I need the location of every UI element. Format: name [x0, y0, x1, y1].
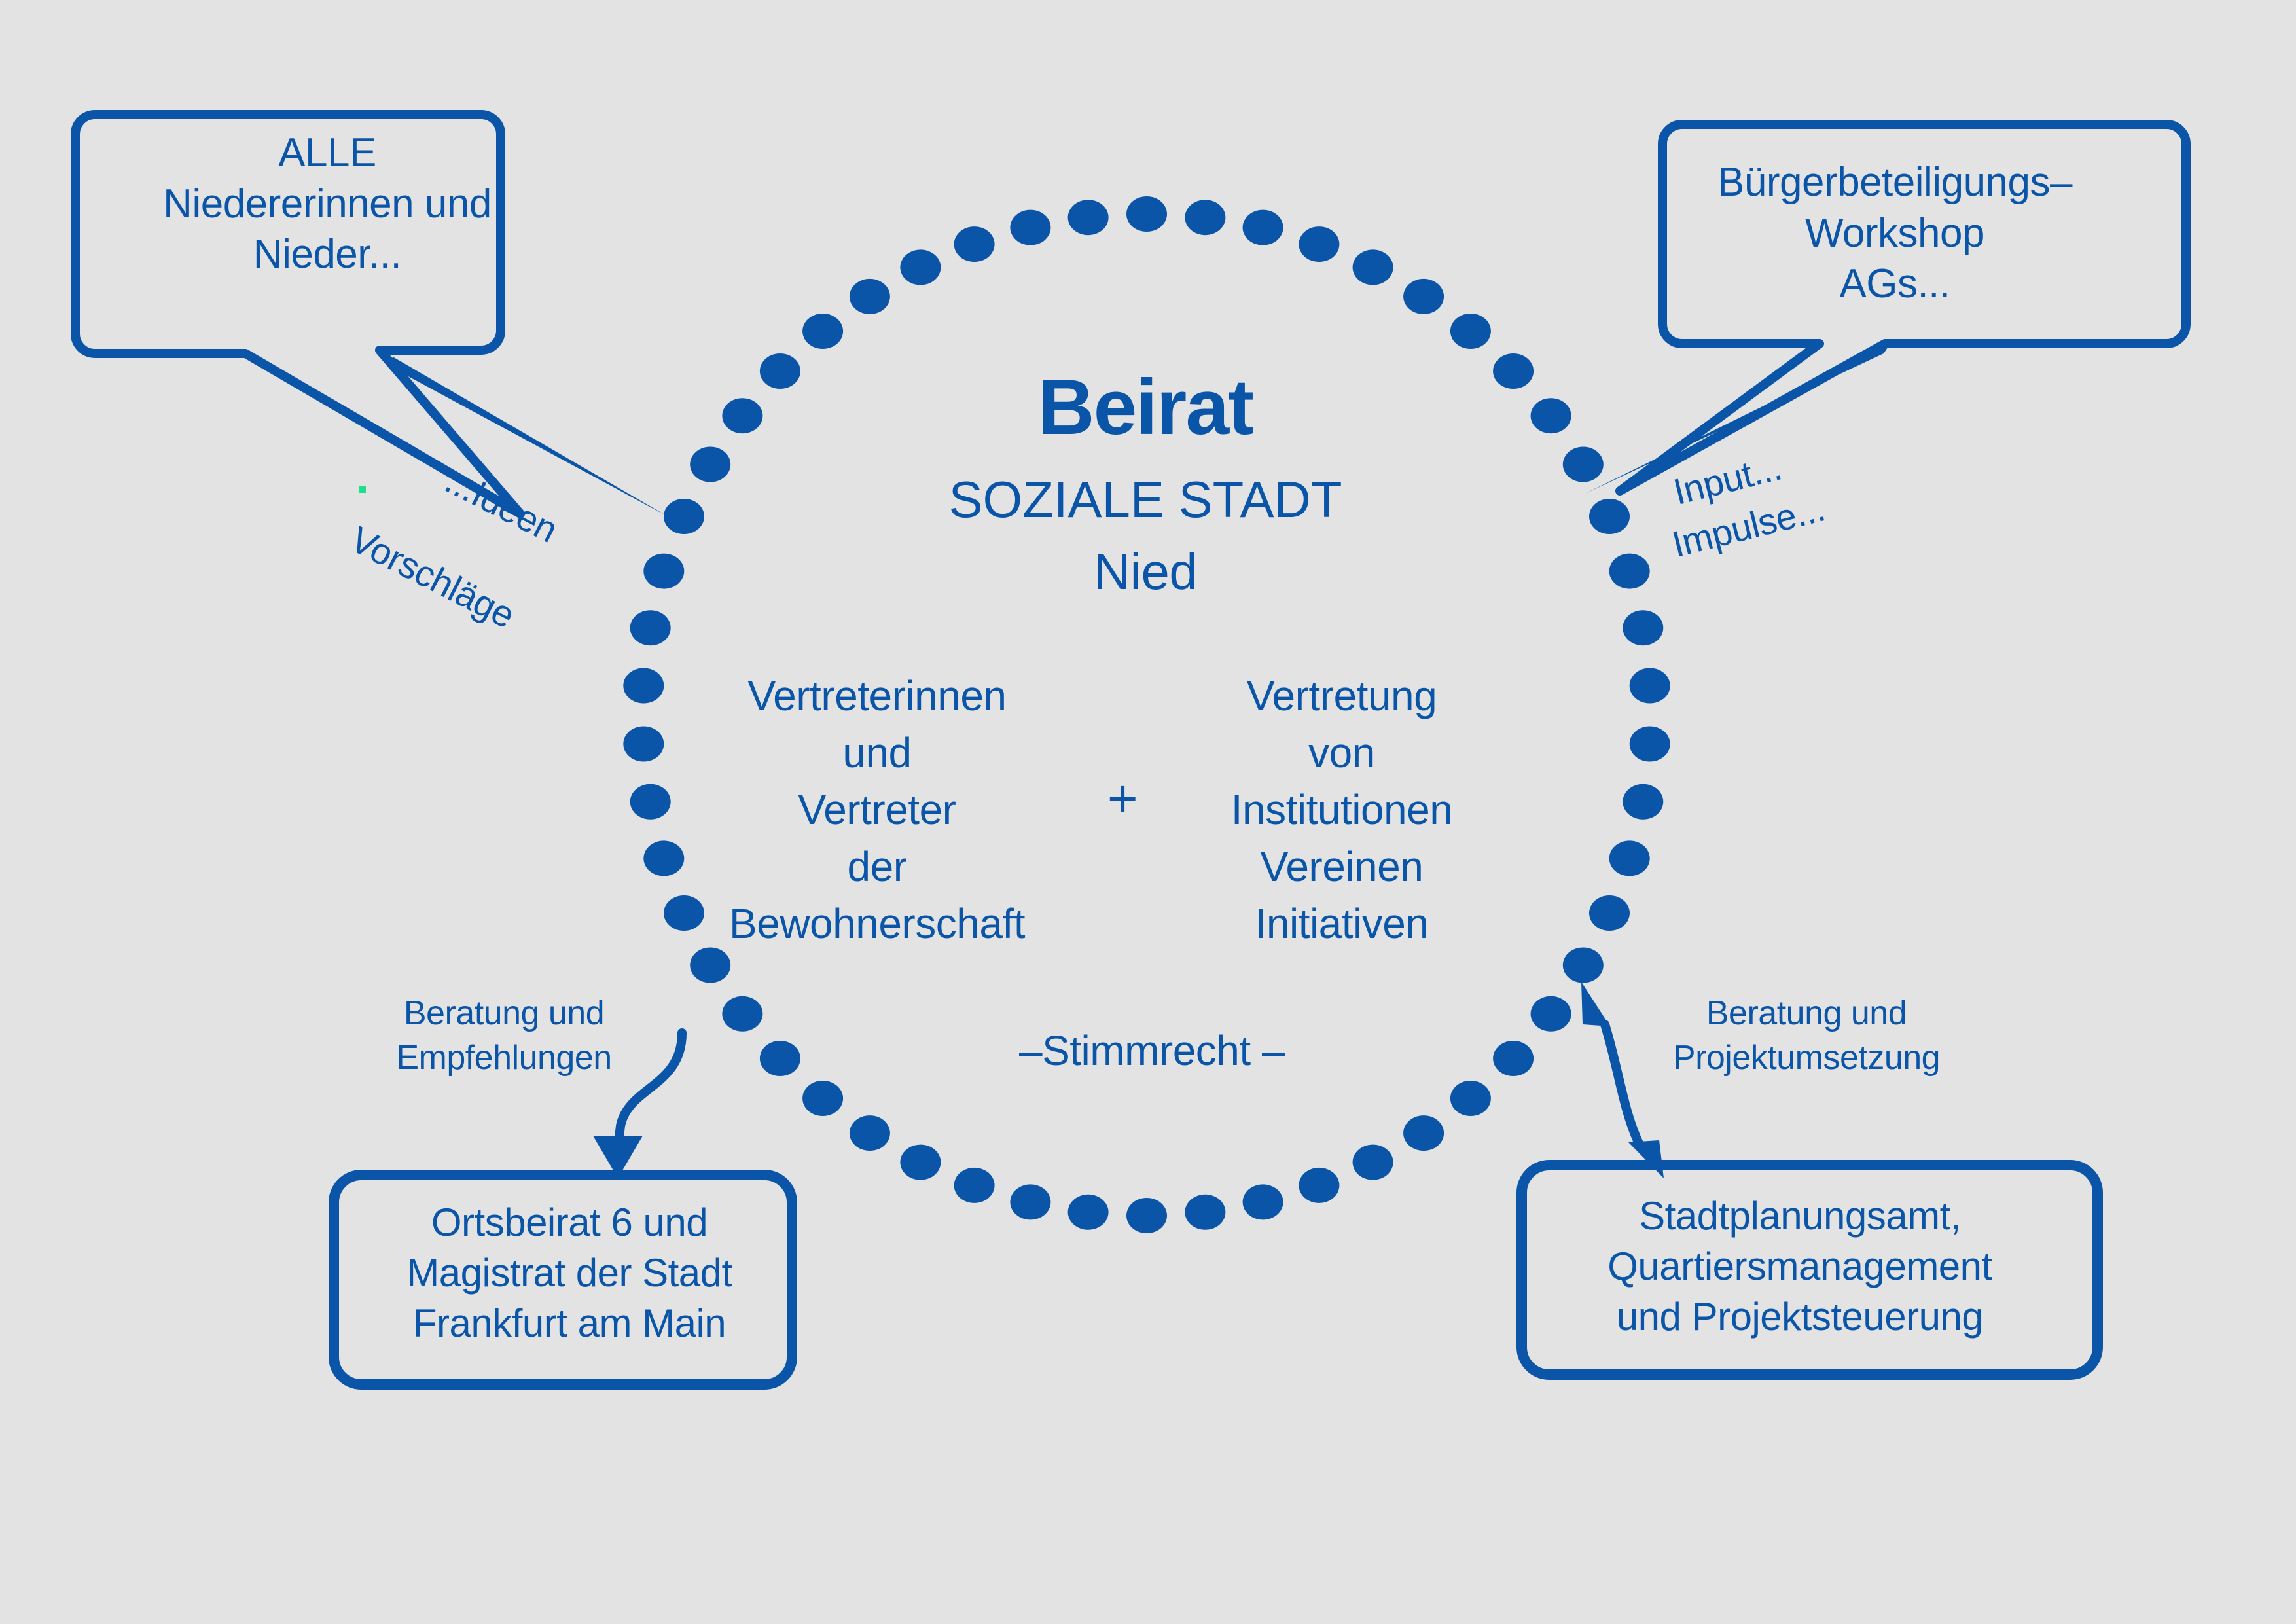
ring-dot	[1010, 210, 1050, 245]
ring-dot	[630, 784, 671, 820]
box-left-label: Ortsbeirat 6 und Magistrat der Stadt Fra…	[327, 1198, 812, 1348]
ring-dot	[1531, 996, 1571, 1032]
ring-dot	[1403, 279, 1444, 314]
ring-dot	[850, 1115, 890, 1151]
ring-dot	[1450, 1081, 1491, 1116]
ring-dot	[900, 1145, 941, 1180]
ring-dot	[690, 948, 730, 983]
ring-dot	[1531, 398, 1571, 433]
ring-dot	[1243, 210, 1283, 245]
ring-dot	[630, 610, 671, 645]
ring-dot	[623, 727, 664, 762]
ring-dot	[1299, 226, 1339, 262]
ring-dot	[664, 499, 704, 534]
center-plus-operator: +	[1080, 769, 1165, 828]
ring-dot	[664, 895, 704, 931]
ring-dot	[1068, 1195, 1109, 1230]
center-subheading-line1: SOZIALE STADT	[818, 471, 1473, 528]
ring-dot	[1589, 895, 1630, 931]
ring-dot	[1609, 840, 1650, 876]
diagram-canvas: ALLE Niedererinnen und Nieder... Bürgerb…	[0, 0, 2296, 1624]
ring-dot	[1623, 610, 1663, 645]
center-column-right: Vertretung von Institutionen Vereinen In…	[1204, 668, 1479, 952]
bubble-left-tail	[390, 357, 669, 517]
ring-dot	[850, 279, 890, 314]
ring-dot	[1010, 1184, 1050, 1219]
ring-dot	[1353, 249, 1393, 285]
ring-dot	[1450, 314, 1491, 349]
ring-dot	[760, 1041, 800, 1076]
center-subheading-line2: Nied	[818, 543, 1473, 600]
ring-dot	[1299, 1168, 1339, 1203]
ring-dot	[1563, 447, 1604, 482]
ring-dot	[1563, 948, 1604, 983]
ring-dot	[722, 398, 762, 433]
ring-dot	[1623, 784, 1663, 820]
ring-dot	[1609, 554, 1650, 589]
ring-dot	[900, 249, 941, 285]
ring-dot	[623, 668, 664, 704]
ring-dot	[1589, 499, 1630, 534]
bubble-right-label: Bürgerbeteiligungs– Workshop AGs...	[1666, 157, 2124, 310]
flow-left-label: Beratung und Empfehlungen	[340, 992, 668, 1080]
center-heading: Beirat	[818, 363, 1473, 451]
arrow-right-head-up	[1581, 982, 1610, 1026]
ring-dot	[1185, 200, 1225, 235]
ring-dot	[1126, 1198, 1167, 1233]
ring-dot	[690, 447, 730, 482]
bubble-left-label: ALLE Niedererinnen und Nieder...	[98, 128, 556, 280]
ring-dot	[1185, 1195, 1225, 1230]
ring-dot	[643, 554, 684, 589]
ring-dot	[954, 1168, 995, 1203]
ring-dot	[722, 996, 762, 1032]
ring-dot	[1353, 1145, 1393, 1180]
ring-dot	[1493, 1041, 1534, 1076]
ring-dot	[760, 353, 800, 389]
ring-dot	[1126, 196, 1167, 232]
center-footer-stimmrecht: –Stimmrecht –	[949, 1028, 1355, 1075]
ring-dot	[802, 314, 843, 349]
arrow-right-head-down	[1628, 1140, 1664, 1178]
ring-dot	[1243, 1184, 1283, 1219]
ring-dot	[643, 840, 684, 876]
ring-dot	[954, 226, 995, 262]
ring-dot	[802, 1081, 843, 1116]
box-right-label: Stadtplanungsamt, Quartiersmanagement un…	[1518, 1191, 2081, 1342]
ring-dot	[1630, 668, 1670, 704]
flow-right-label: Beratung und Projektumsetzung	[1630, 992, 1983, 1080]
ring-dot	[1403, 1115, 1444, 1151]
ring-dot	[1493, 353, 1534, 389]
ring-dot	[1068, 200, 1109, 235]
green-marker-dot	[359, 486, 366, 493]
ring-dot	[1630, 727, 1670, 762]
center-column-left: Vertreterinnen und Vertreter der Bewohne…	[707, 668, 1047, 952]
